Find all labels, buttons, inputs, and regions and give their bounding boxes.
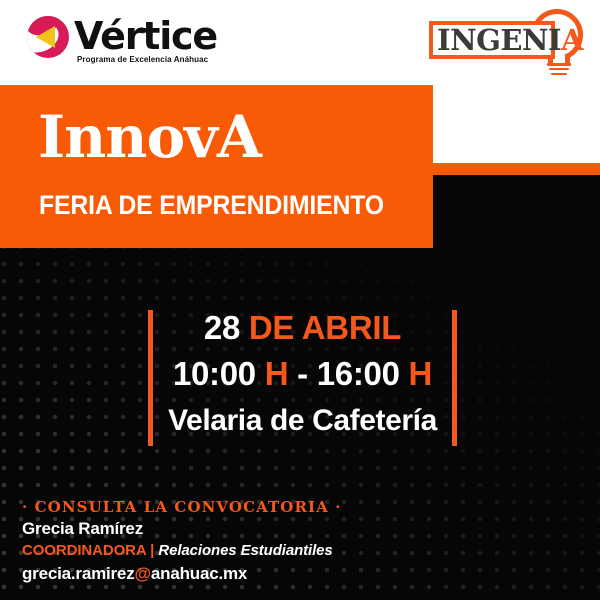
event-time-start-unit: H	[265, 355, 289, 392]
page-title: InnovA	[38, 106, 261, 168]
email-user: grecia.ramirez	[22, 564, 135, 583]
event-time-end: 16:00	[317, 355, 400, 392]
vertice-tagline: Programa de Excelencia Anáhuac	[77, 55, 208, 64]
event-date: 28 DE ABRIL	[153, 305, 452, 350]
lightbulb-base-icon	[547, 63, 571, 78]
event-time-separator: -	[297, 355, 308, 392]
event-time: 10:00 H - 16:00 H	[153, 350, 452, 398]
page-subtitle: FERIA DE EMPRENDIMIENTO	[39, 190, 384, 220]
email-at-icon: @	[135, 564, 151, 583]
ingenia-logo: INGENIA	[429, 9, 584, 81]
ingenia-wordmark: INGENIA	[437, 22, 587, 58]
call-to-action-text: · CONSULTA LA CONVOCATORIA ·	[22, 497, 452, 518]
contact-role: COORDINADORA	[22, 542, 146, 559]
role-separator: |	[150, 542, 154, 559]
contact-email[interactable]: grecia.ramirez@anahuac.mx	[22, 562, 452, 585]
ingenia-wordmark-accent: A	[561, 23, 583, 57]
header-background-right	[433, 85, 600, 163]
event-date-month: DE ABRIL	[249, 309, 401, 346]
vertice-triangle-shape	[36, 26, 55, 48]
contact-name: Grecia Ramírez	[22, 518, 452, 540]
email-domain: anahuac.mx	[151, 564, 247, 583]
hero-accent-strip	[433, 163, 600, 175]
promotional-poster: Vértice Programa de Excelencia Anáhuac I…	[0, 0, 600, 600]
event-time-end-unit: H	[409, 355, 433, 392]
contact-role-line: COORDINADORA | Relaciones Estudiantiles	[22, 540, 452, 562]
vertice-circle-triangle-icon	[27, 16, 69, 58]
event-rule-right	[452, 310, 457, 446]
event-details: 28 DE ABRIL 10:00 H - 16:00 H Velaria de…	[153, 305, 452, 451]
event-time-start: 10:00	[173, 355, 256, 392]
event-date-number: 28	[204, 309, 240, 346]
ingenia-wordmark-dark: INGENI	[437, 23, 561, 57]
vertice-wordmark: Vértice	[74, 14, 217, 58]
contact-department: Relaciones Estudiantiles	[158, 542, 332, 559]
event-venue: Velaria de Cafetería	[153, 398, 452, 444]
vertice-logo: Vértice Programa de Excelencia Anáhuac	[27, 14, 202, 66]
footer-contact: · CONSULTA LA CONVOCATORIA · Grecia Ramí…	[22, 497, 452, 585]
